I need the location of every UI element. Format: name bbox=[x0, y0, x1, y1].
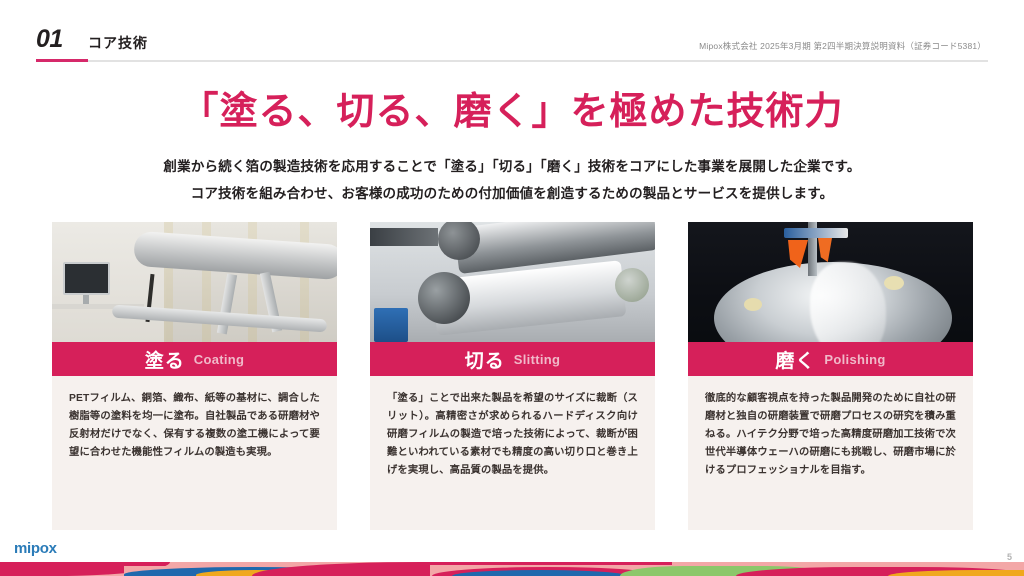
header-divider bbox=[36, 60, 988, 62]
card-band-coating: 塗る Coating bbox=[52, 342, 337, 376]
card-title-en: Polishing bbox=[824, 352, 885, 367]
card-polishing: 磨く Polishing 徹底的な顧客視点を持った製品開発のために自社の研磨材と… bbox=[688, 222, 973, 530]
core-technology-cards: 塗る Coating PETフィルム、銅箔、織布、紙等の基材に、調合した樹脂等の… bbox=[52, 222, 973, 530]
coating-machine-photo bbox=[52, 222, 337, 342]
card-title-en: Slitting bbox=[514, 352, 560, 367]
slide-header: 01 コア技術 Mipox株式会社 2025年3月期 第2四半期決算説明資料（証… bbox=[0, 0, 1024, 62]
mipox-logo: mipox bbox=[14, 540, 57, 557]
card-description: 徹底的な顧客視点を持った製品開発のために自社の研磨材と独自の研磨装置で研磨プロセ… bbox=[705, 390, 956, 480]
section-label: コア技術 bbox=[88, 33, 148, 53]
subtitle-line-2: コア技術を組み合わせ、お客様の成功のための付加価値を創造するための製品とサービス… bbox=[0, 180, 1024, 207]
card-title-jp: 塗る bbox=[145, 346, 185, 373]
slitting-machine-photo bbox=[370, 222, 655, 342]
card-description: 「塗る」ことで出来た製品を希望のサイズに裁断（スリット）。高精密さが求められるハ… bbox=[387, 390, 638, 480]
card-band-slitting: 切る Slitting bbox=[370, 342, 655, 376]
card-coating: 塗る Coating PETフィルム、銅箔、織布、紙等の基材に、調合した樹脂等の… bbox=[52, 222, 337, 530]
card-body-slitting: 「塗る」ことで出来た製品を希望のサイズに裁断（スリット）。高精密さが求められるハ… bbox=[370, 376, 655, 530]
card-title-jp: 切る bbox=[465, 346, 505, 373]
subtitle-line-1: 創業から続く箔の製造技術を応用することで「塗る」「切る」「磨く」技術をコアにした… bbox=[0, 153, 1024, 180]
card-band-polishing: 磨く Polishing bbox=[688, 342, 973, 376]
page-number: 5 bbox=[1007, 552, 1012, 562]
card-title-jp: 磨く bbox=[775, 346, 815, 373]
page-subtitle: 創業から続く箔の製造技術を応用することで「塗る」「切る」「磨く」技術をコアにした… bbox=[0, 153, 1024, 207]
card-slitting: 切る Slitting 「塗る」ことで出来た製品を希望のサイズに裁断（スリット）… bbox=[370, 222, 655, 530]
card-title-en: Coating bbox=[194, 352, 244, 367]
page-title: 「塗る、切る、磨く」を極めた技術力 bbox=[0, 92, 1024, 134]
card-description: PETフィルム、銅箔、織布、紙等の基材に、調合した樹脂等の塗料を均一に塗布。自社… bbox=[69, 390, 320, 462]
card-body-coating: PETフィルム、銅箔、織布、紙等の基材に、調合した樹脂等の塗料を均一に塗布。自社… bbox=[52, 376, 337, 530]
card-body-polishing: 徹底的な顧客視点を持った製品開発のために自社の研磨材と独自の研磨装置で研磨プロセ… bbox=[688, 376, 973, 530]
document-meta: Mipox株式会社 2025年3月期 第2四半期決算説明資料（証券コード5381… bbox=[699, 40, 986, 52]
section-number: 01 bbox=[36, 25, 63, 54]
header-accent-bar bbox=[36, 59, 88, 62]
footer-decorative-strip bbox=[0, 562, 1024, 576]
polishing-machine-photo bbox=[688, 222, 973, 342]
